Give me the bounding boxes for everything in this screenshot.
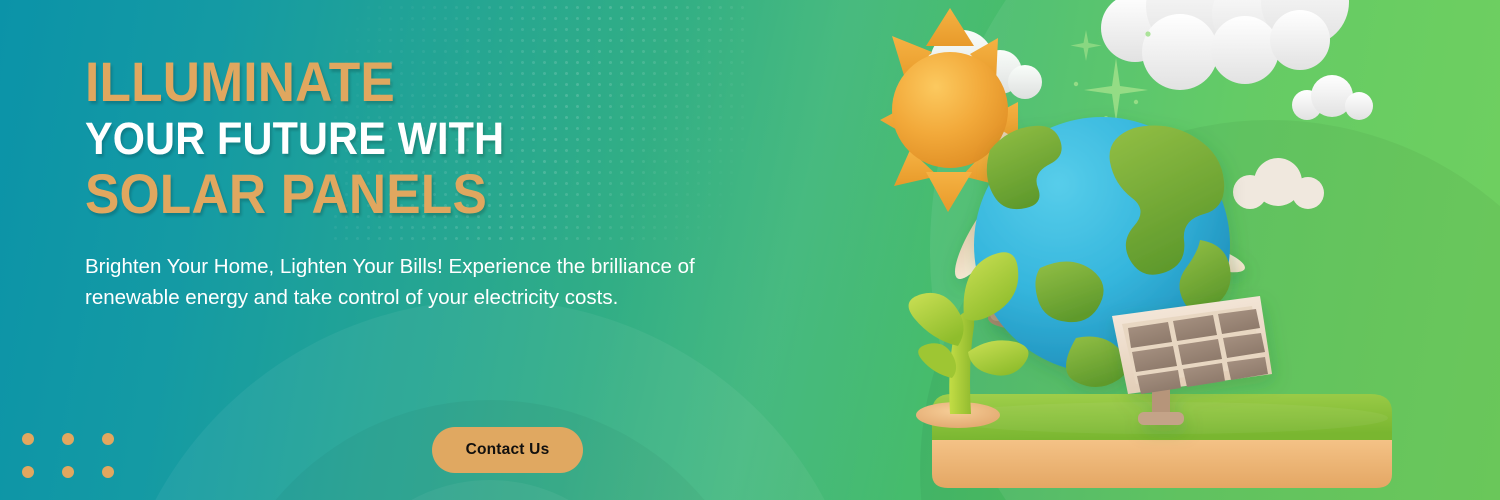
decor-dot-grid [22, 433, 114, 478]
decor-dot [62, 433, 74, 445]
decor-ring-inner [325, 480, 655, 500]
solar-hero-banner: ILLUMINATE YOUR FUTURE WITH SOLAR PANELS… [0, 0, 1500, 500]
renewable-energy-illustration [880, 0, 1500, 500]
decor-dot [62, 466, 74, 478]
cloud-tiny-right-icon [1233, 158, 1324, 209]
cloud-top-right-icon [1101, 0, 1349, 90]
decor-dot [102, 433, 114, 445]
contact-us-button[interactable]: Contact Us [432, 427, 583, 473]
cloud-small-right-icon [1292, 75, 1373, 120]
decor-dot [22, 433, 34, 445]
headline-line-2: YOUR FUTURE WITH [85, 118, 747, 160]
decor-dot [102, 466, 114, 478]
hero-copy-block: ILLUMINATE YOUR FUTURE WITH SOLAR PANELS… [85, 56, 805, 333]
headline-line-1: ILLUMINATE [85, 56, 747, 109]
headline-line-3: SOLAR PANELS [85, 168, 747, 221]
decor-dot [22, 466, 34, 478]
hero-subcopy: Brighten Your Home, Lighten Your Bills! … [85, 251, 775, 313]
